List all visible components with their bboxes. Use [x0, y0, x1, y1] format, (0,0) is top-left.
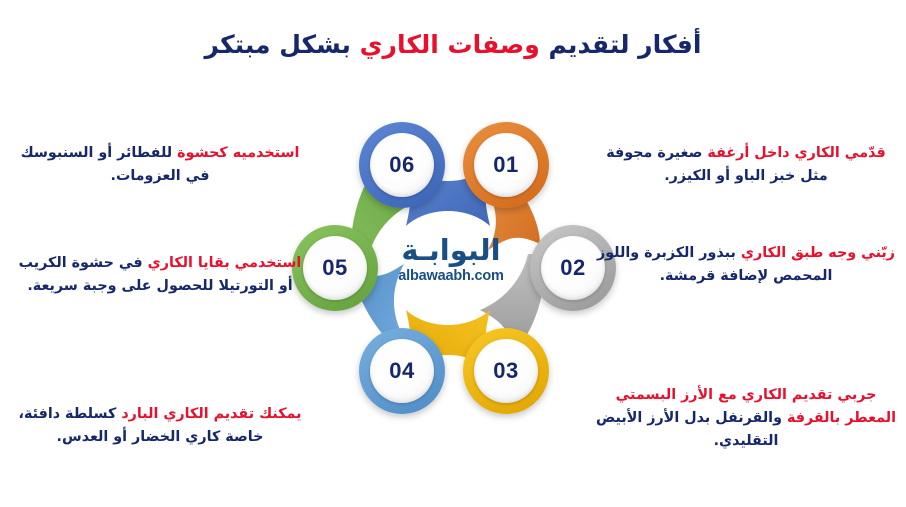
- center-logo: البوابـة albawaabh.com: [383, 236, 519, 302]
- node-01-number: 01: [493, 152, 518, 178]
- page-title: أفكار لتقديم وصفات الكاري بشكل مبتكر: [0, 28, 906, 62]
- node-03-inner: 03: [474, 339, 538, 403]
- item-text-left-3: يمكنك تقديم الكاري البارد كسلطة دافئة، خ…: [10, 403, 310, 449]
- node-05-inner: 05: [303, 236, 367, 300]
- item-right-1-highlight: قدّمي الكاري داخل أرغفة: [707, 145, 885, 161]
- item-text-right-3: جربي تقديم الكاري مع الأرز البسمتي المعط…: [596, 384, 896, 453]
- node-01-ring: 01: [463, 122, 549, 208]
- node-06-ring: 06: [359, 122, 445, 208]
- node-04-ring: 04: [359, 328, 445, 414]
- ring-node-06[interactable]: 06: [359, 122, 445, 208]
- ring-node-01[interactable]: 01: [463, 122, 549, 208]
- item-left-3-highlight: يمكنك تقديم الكاري البارد: [121, 406, 301, 422]
- title-segment-3: بشكل مبتكر: [205, 30, 351, 59]
- node-02-number: 02: [560, 255, 585, 281]
- item-text-left-1: استخدميه كحشوة للفطائر أو السنبوسك في ال…: [10, 142, 310, 188]
- item-left-2-highlight: استخدمي بقايا الكاري: [148, 255, 302, 271]
- logo-wordmark: البوابـة: [383, 236, 519, 265]
- node-06-inner: 06: [370, 133, 434, 197]
- node-04-inner: 04: [370, 339, 434, 403]
- ring-node-04[interactable]: 04: [359, 328, 445, 414]
- title-segment-2: وصفات الكاري: [360, 30, 540, 59]
- item-right-2-highlight: زيّني وجه طبق الكاري: [741, 245, 895, 261]
- node-01-inner: 01: [474, 133, 538, 197]
- item-text-right-2: زيّني وجه طبق الكاري ببذور الكزبرة واللو…: [596, 242, 896, 288]
- item-left-1-highlight: استخدميه كحشوة: [177, 145, 299, 161]
- logo-domain: albawaabh.com: [383, 268, 519, 284]
- process-ring-diagram: 01 02 03 04: [278, 108, 618, 428]
- node-05-number: 05: [322, 255, 347, 281]
- node-03-number: 03: [493, 358, 518, 384]
- title-segment-1: أفكار لتقديم: [548, 30, 701, 59]
- item-right-3-rest: والقرنفل بدل الأرز الأبيض التقليدي.: [596, 410, 787, 449]
- item-text-left-2: استخدمي بقايا الكاري في حشوة الكريب أو ا…: [10, 252, 310, 298]
- infographic-canvas: أفكار لتقديم وصفات الكاري بشكل مبتكر: [0, 0, 906, 507]
- node-03-ring: 03: [463, 328, 549, 414]
- item-text-right-1: قدّمي الكاري داخل أرغفة صغيرة مجوفة مثل …: [596, 142, 896, 188]
- node-04-number: 04: [389, 358, 414, 384]
- ring-node-03[interactable]: 03: [463, 328, 549, 414]
- node-06-number: 06: [389, 152, 414, 178]
